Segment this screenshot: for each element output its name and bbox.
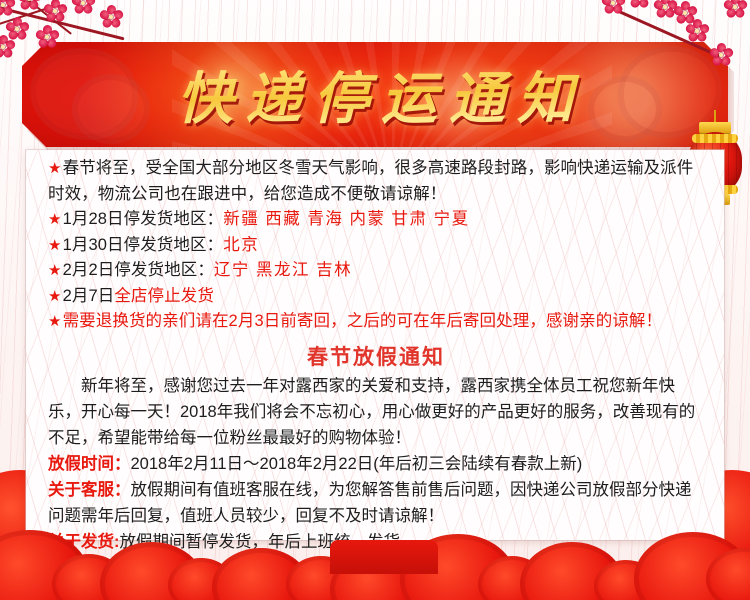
bullet-regions: 北京 [223, 236, 259, 254]
bullet-text: 1月28日停发货地区： [63, 210, 224, 228]
holiday-item-shipping: 关于发货:放假期间暂停发货，年后上班统一发货。 [48, 529, 704, 555]
bullet-text: 2月7日 [63, 287, 115, 305]
star-icon: ★ [48, 237, 62, 254]
item-value: 放假期间有值班客服在线，为您解答售前售后问题，因快递公司放假部分快递问题需年后回… [48, 481, 692, 525]
content-panel: ★春节将至，受全国大部分地区冬雪天气影响，很多高速路段封路，影响快递运输及派件时… [26, 150, 724, 540]
holiday-heading: 春节放假通知 [48, 341, 704, 371]
star-icon: ★ [48, 160, 62, 177]
holiday-item-customer-service: 关于客服：放假期间有值班客服在线，为您解答售前售后问题，因快递公司放假部分快递问… [48, 477, 704, 529]
bullet-regions: 辽宁 黑龙江 吉林 [214, 261, 352, 279]
notice-bullet: ★2月7日全店停止发货 [48, 284, 704, 310]
star-icon: ★ [48, 211, 62, 228]
bullet-highlight: 全店停止发货 [114, 287, 214, 305]
notice-bullet: ★1月30日停发货地区：北京 [48, 233, 704, 259]
star-icon: ★ [48, 288, 62, 305]
item-label: 关于发货: [48, 533, 120, 551]
bullet-text: 2月2日停发货地区： [63, 261, 214, 279]
holiday-paragraph: 新年将至，感谢您过去一年对露西家的关爱和支持，露西家携全体员工祝您新年快乐，开心… [48, 373, 704, 451]
item-value: 2018年2月11日～2018年2月22日(年后初三会陆续有春款上新) [131, 455, 583, 473]
bullet-regions: 新疆 西藏 青海 内蒙 甘肃 宁夏 [223, 210, 469, 228]
bullet-text: 1月30日停发货地区： [63, 236, 224, 254]
notice-bullet-list: ★春节将至，受全国大部分地区冬雪天气影响，很多高速路段封路，影响快递运输及派件时… [48, 156, 704, 335]
header-banner: 快递停运通知 [22, 42, 728, 147]
notice-bullet: ★1月28日停发货地区：新疆 西藏 青海 内蒙 甘肃 宁夏 [48, 207, 704, 233]
notice-bullet: ★春节将至，受全国大部分地区冬雪天气影响，很多高速路段封路，影响快递运输及派件时… [48, 156, 704, 207]
bullet-text: 春节将至，受全国大部分地区冬雪天气影响，很多高速路段封路，影响快递运输及派件时效… [48, 159, 693, 203]
item-label: 放假时间： [48, 455, 131, 473]
notice-bullet: ★需要退换货的亲们请在2月3日前寄回，之后的可在年后寄回处理，感谢亲的谅解！ [48, 309, 704, 335]
item-value: 放假期间暂停发货，年后上班统一发货。 [120, 533, 417, 551]
banner-title: 快递停运通知 [22, 42, 728, 147]
bullet-text: 需要退换货的亲们请在2月3日前寄回，之后的可在年后寄回处理，感谢亲的谅解！ [63, 312, 663, 330]
item-label: 关于客服： [48, 481, 131, 499]
notice-bullet: ★2月2日停发货地区：辽宁 黑龙江 吉林 [48, 258, 704, 284]
poster-root: 快递停运通知 [0, 0, 750, 600]
holiday-item-vacation-time: 放假时间：2018年2月11日～2018年2月22日(年后初三会陆续有春款上新) [48, 451, 704, 477]
star-icon: ★ [48, 262, 62, 279]
star-icon: ★ [48, 313, 62, 330]
